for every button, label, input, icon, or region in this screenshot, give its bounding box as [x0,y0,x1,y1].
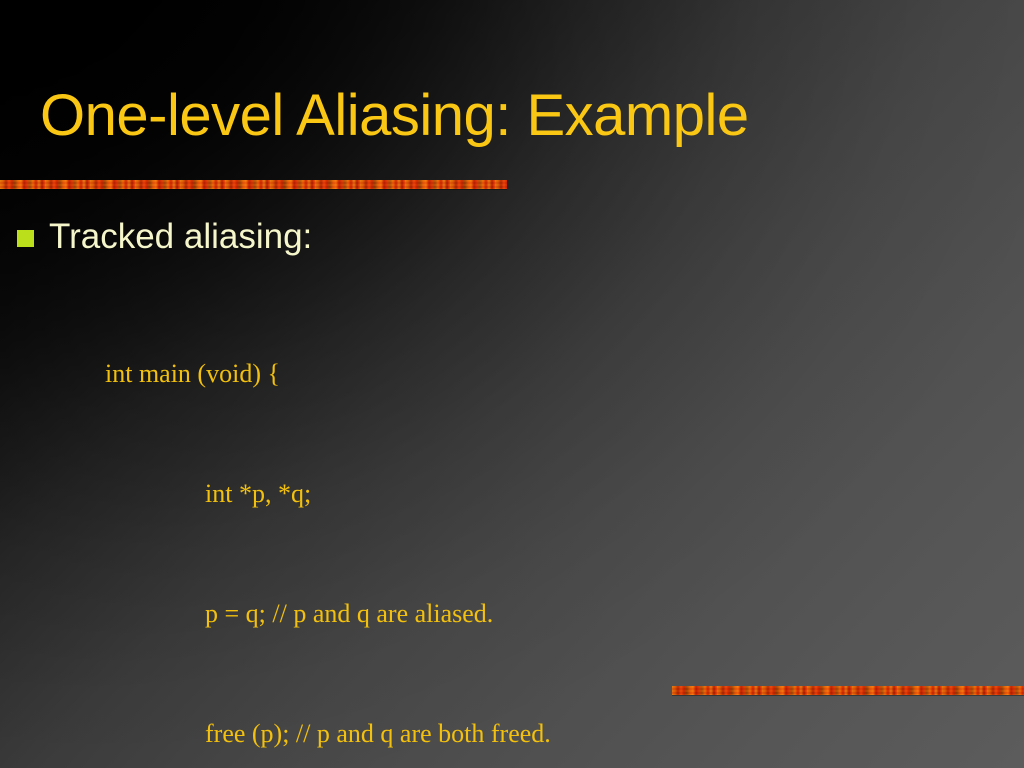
page-title: One-level Aliasing: Example [40,82,980,150]
bullet-label: Tracked aliasing: [49,214,1024,260]
code-line: p = q; // p and q are aliased. [0,594,1024,634]
slide-body: Tracked aliasing: int main (void) { int … [0,214,1024,768]
spacer [0,260,1024,274]
title-divider-band [0,180,507,189]
code-line: int *p, *q; [0,474,1024,514]
square-bullet-icon [17,230,34,247]
footer-accent-band [672,686,1024,695]
code-line: free (p); // p and q are both freed. [0,714,1024,754]
bullet-item-tracked-aliasing: Tracked aliasing: [0,214,1024,260]
slide-canvas: One-level Aliasing: Example Tracked alia… [0,0,1024,768]
code-line: int main (void) { [0,354,1024,394]
